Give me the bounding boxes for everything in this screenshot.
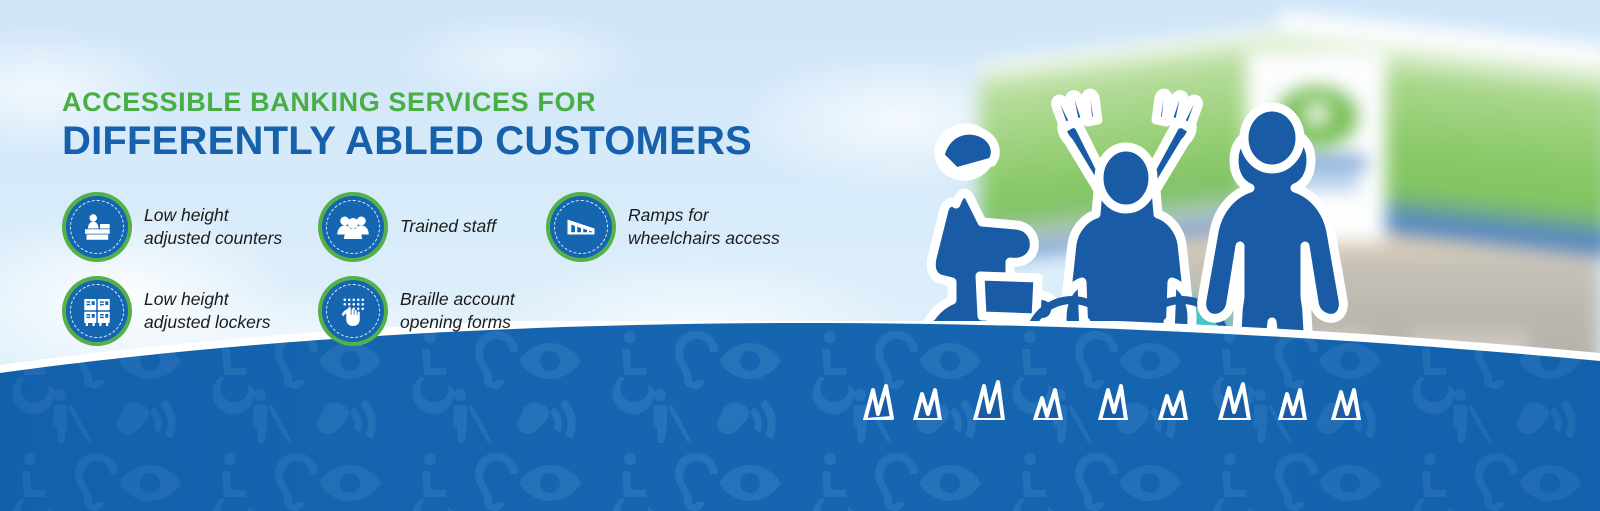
feature-low-height-lockers[interactable]: Low height adjusted lockers — [62, 276, 318, 346]
feature-braille-forms[interactable]: Braille account opening forms — [318, 276, 578, 346]
eyebrow-text: ACCESSIBLE BANKING SERVICES FOR — [62, 88, 862, 118]
feature-ramps-wheelchair-access[interactable]: Ramps for wheelchairs access — [546, 192, 816, 262]
accessible-banking-banner: ACCESSIBLE BANKING SERVICES FOR DIFFEREN… — [0, 0, 1600, 511]
feature-label: Ramps for wheelchairs access — [628, 204, 780, 250]
feature-label: Braille account opening forms — [400, 288, 515, 334]
feature-row-1: Low height adjusted counters Trained sta… — [62, 192, 852, 262]
feature-list: Low height adjusted counters Trained sta… — [62, 192, 852, 360]
feature-row-2: Low height adjusted lockers — [62, 276, 852, 346]
feature-label: Low height adjusted lockers — [144, 288, 270, 334]
feature-low-height-counters[interactable]: Low height adjusted counters — [62, 192, 318, 262]
braille-hand-icon — [318, 276, 388, 346]
people-group-icon — [318, 192, 388, 262]
feature-trained-staff[interactable]: Trained staff — [318, 192, 546, 262]
grass-tufts — [855, 330, 1375, 420]
lockers-icon — [62, 276, 132, 346]
ramp-icon — [546, 192, 616, 262]
feature-label: Trained staff — [400, 215, 496, 238]
headline-block: ACCESSIBLE BANKING SERVICES FOR DIFFEREN… — [62, 88, 862, 163]
bank-counter-icon — [62, 192, 132, 262]
feature-label: Low height adjusted counters — [144, 204, 282, 250]
page-title: DIFFERENTLY ABLED CUSTOMERS — [62, 120, 862, 163]
